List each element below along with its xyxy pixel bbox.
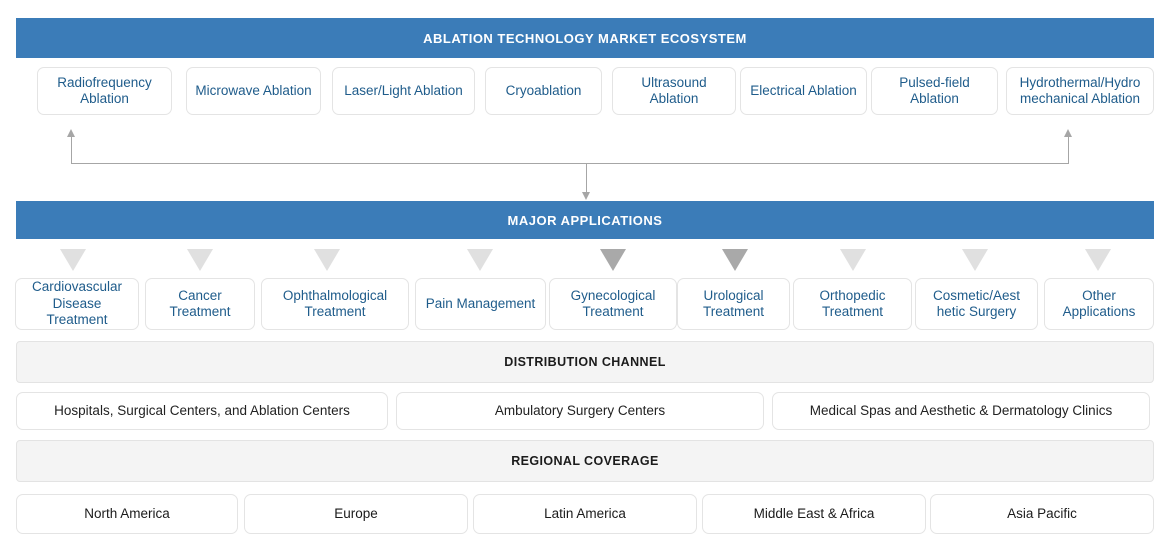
technology-card-label: Microwave Ablation [189,83,317,99]
triangle-down-icon-1 [60,249,86,271]
application-card-label: Cancer Treatment [146,288,254,321]
regional-coverage-title: REGIONAL COVERAGE [511,454,659,468]
technology-card-1[interactable]: Radiofrequency Ablation [37,67,172,115]
arrow-up-right-icon [1064,129,1072,137]
distribution-card-2[interactable]: Ambulatory Surgery Centers [396,392,764,430]
ecosystem-banner-title: ABLATION TECHNOLOGY MARKET ECOSYSTEM [423,31,747,46]
application-card-3[interactable]: Ophthalmological Treatment [261,278,409,330]
technology-card-2[interactable]: Microwave Ablation [186,67,321,115]
application-card-7[interactable]: Orthopedic Treatment [793,278,912,330]
application-card-6[interactable]: Urological Treatment [677,278,790,330]
technology-card-5[interactable]: Ultrasound Ablation [612,67,736,115]
technology-card-4[interactable]: Cryoablation [485,67,602,115]
triangle-down-icon-2 [187,249,213,271]
region-card-label: Middle East & Africa [748,506,881,522]
connector-horizontal-line [71,163,1069,164]
technology-card-label: Laser/Light Ablation [338,83,469,99]
connector-right-vertical [1068,135,1069,164]
technology-card-8[interactable]: Hydrothermal/Hydro mechanical Ablation [1006,67,1154,115]
region-card-label: North America [78,506,176,522]
application-card-1[interactable]: Cardiovascular Disease Treatment [15,278,139,330]
connector-middle-vertical [586,163,587,194]
triangle-down-icon-3 [314,249,340,271]
application-card-label: Ophthalmological Treatment [262,288,408,321]
distribution-card-label: Medical Spas and Aesthetic & Dermatology… [804,403,1118,419]
technology-card-3[interactable]: Laser/Light Ablation [332,67,475,115]
triangle-down-icon-9 [1085,249,1111,271]
distribution-card-3[interactable]: Medical Spas and Aesthetic & Dermatology… [772,392,1150,430]
application-card-label: Pain Management [420,296,542,312]
technology-card-label: Electrical Ablation [744,83,863,99]
triangle-down-icon-7 [840,249,866,271]
triangle-down-icon-8 [962,249,988,271]
technology-card-label: Hydrothermal/Hydro mechanical Ablation [1007,75,1153,108]
technology-card-label: Cryoablation [500,83,588,99]
applications-banner: MAJOR APPLICATIONS [16,201,1154,239]
distribution-card-label: Ambulatory Surgery Centers [489,403,671,419]
region-card-label: Asia Pacific [1001,506,1083,522]
region-card-2[interactable]: Europe [244,494,468,534]
region-card-1[interactable]: North America [16,494,238,534]
application-card-2[interactable]: Cancer Treatment [145,278,255,330]
arrow-up-left-icon [67,129,75,137]
technology-card-label: Ultrasound Ablation [613,75,735,108]
technology-card-7[interactable]: Pulsed-field Ablation [871,67,998,115]
application-card-label: Cosmetic/Aest hetic Surgery [916,288,1037,321]
application-card-5[interactable]: Gynecological Treatment [549,278,677,330]
distribution-channel-title: DISTRIBUTION CHANNEL [504,355,665,369]
application-card-8[interactable]: Cosmetic/Aest hetic Surgery [915,278,1038,330]
region-card-3[interactable]: Latin America [473,494,697,534]
technology-card-6[interactable]: Electrical Ablation [740,67,867,115]
application-card-9[interactable]: Other Applications [1044,278,1154,330]
technology-card-label: Pulsed-field Ablation [872,75,997,108]
ecosystem-banner: ABLATION TECHNOLOGY MARKET ECOSYSTEM [16,18,1154,58]
application-card-label: Gynecological Treatment [550,288,676,321]
region-card-label: Latin America [538,506,632,522]
applications-banner-title: MAJOR APPLICATIONS [508,213,663,228]
triangle-down-icon-6 [722,249,748,271]
connector-left-vertical [71,135,72,164]
application-card-4[interactable]: Pain Management [415,278,546,330]
triangle-down-icon-4 [467,249,493,271]
region-card-label: Europe [328,506,384,522]
region-card-5[interactable]: Asia Pacific [930,494,1154,534]
arrow-down-middle-icon [582,192,590,200]
application-card-label: Urological Treatment [678,288,789,321]
technology-card-label: Radiofrequency Ablation [38,75,171,108]
application-card-label: Orthopedic Treatment [794,288,911,321]
ablation-market-ecosystem-diagram: ABLATION TECHNOLOGY MARKET ECOSYSTEM Rad… [0,0,1170,538]
triangle-down-icon-5 [600,249,626,271]
distribution-channel-bar: DISTRIBUTION CHANNEL [16,341,1154,383]
application-card-label: Cardiovascular Disease Treatment [16,279,138,328]
application-card-label: Other Applications [1045,288,1153,321]
region-card-4[interactable]: Middle East & Africa [702,494,926,534]
distribution-card-label: Hospitals, Surgical Centers, and Ablatio… [48,403,356,419]
distribution-card-1[interactable]: Hospitals, Surgical Centers, and Ablatio… [16,392,388,430]
regional-coverage-bar: REGIONAL COVERAGE [16,440,1154,482]
